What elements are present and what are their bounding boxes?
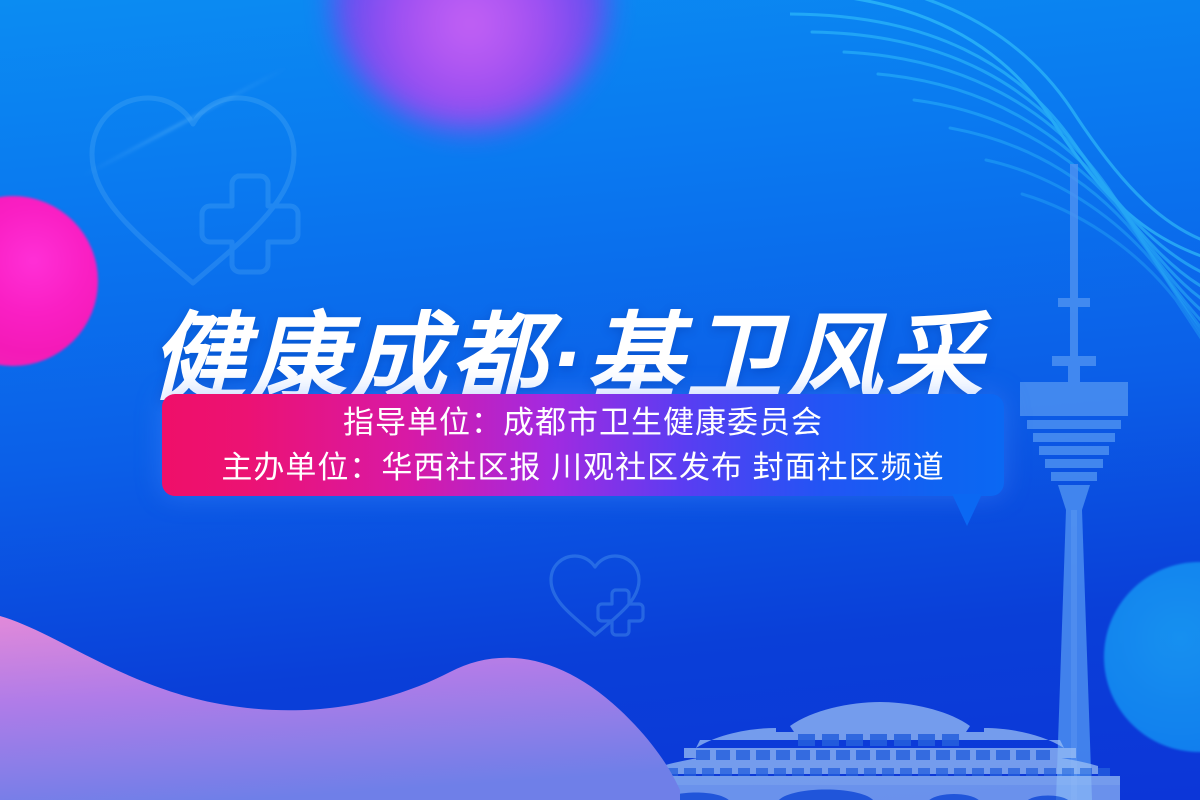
pink-wave-decoration [0,576,680,800]
chengdu-tv-tower-icon [996,150,1176,800]
magenta-circle-decoration [0,196,98,366]
anshun-bridge-icon [600,688,1160,800]
organizer-banner-body: 指导单位：成都市卫生健康委员会 主办单位：华西社区报 川观社区发布 封面社区频道 [162,394,1004,496]
heart-plus-icon [78,78,308,293]
organizer-banner: 指导单位：成都市卫生健康委员会 主办单位：华西社区报 川观社区发布 封面社区频道 [162,394,1004,496]
poster-canvas: 健康成都·基卫风采 指导单位：成都市卫生健康委员会 主办单位：华西社区报 川观社… [0,0,1200,800]
speech-bubble-tail [952,494,982,526]
light-streak-decoration [83,66,287,177]
light-blue-circle-decoration [1104,562,1200,752]
heart-plus-icon [545,548,645,640]
purple-glow-decoration [330,0,610,130]
guiding-unit-line: 指导单位：成都市卫生健康委员会 [343,400,823,445]
organizing-unit-line: 主办单位：华西社区报 川观社区发布 封面社区频道 [221,445,944,490]
